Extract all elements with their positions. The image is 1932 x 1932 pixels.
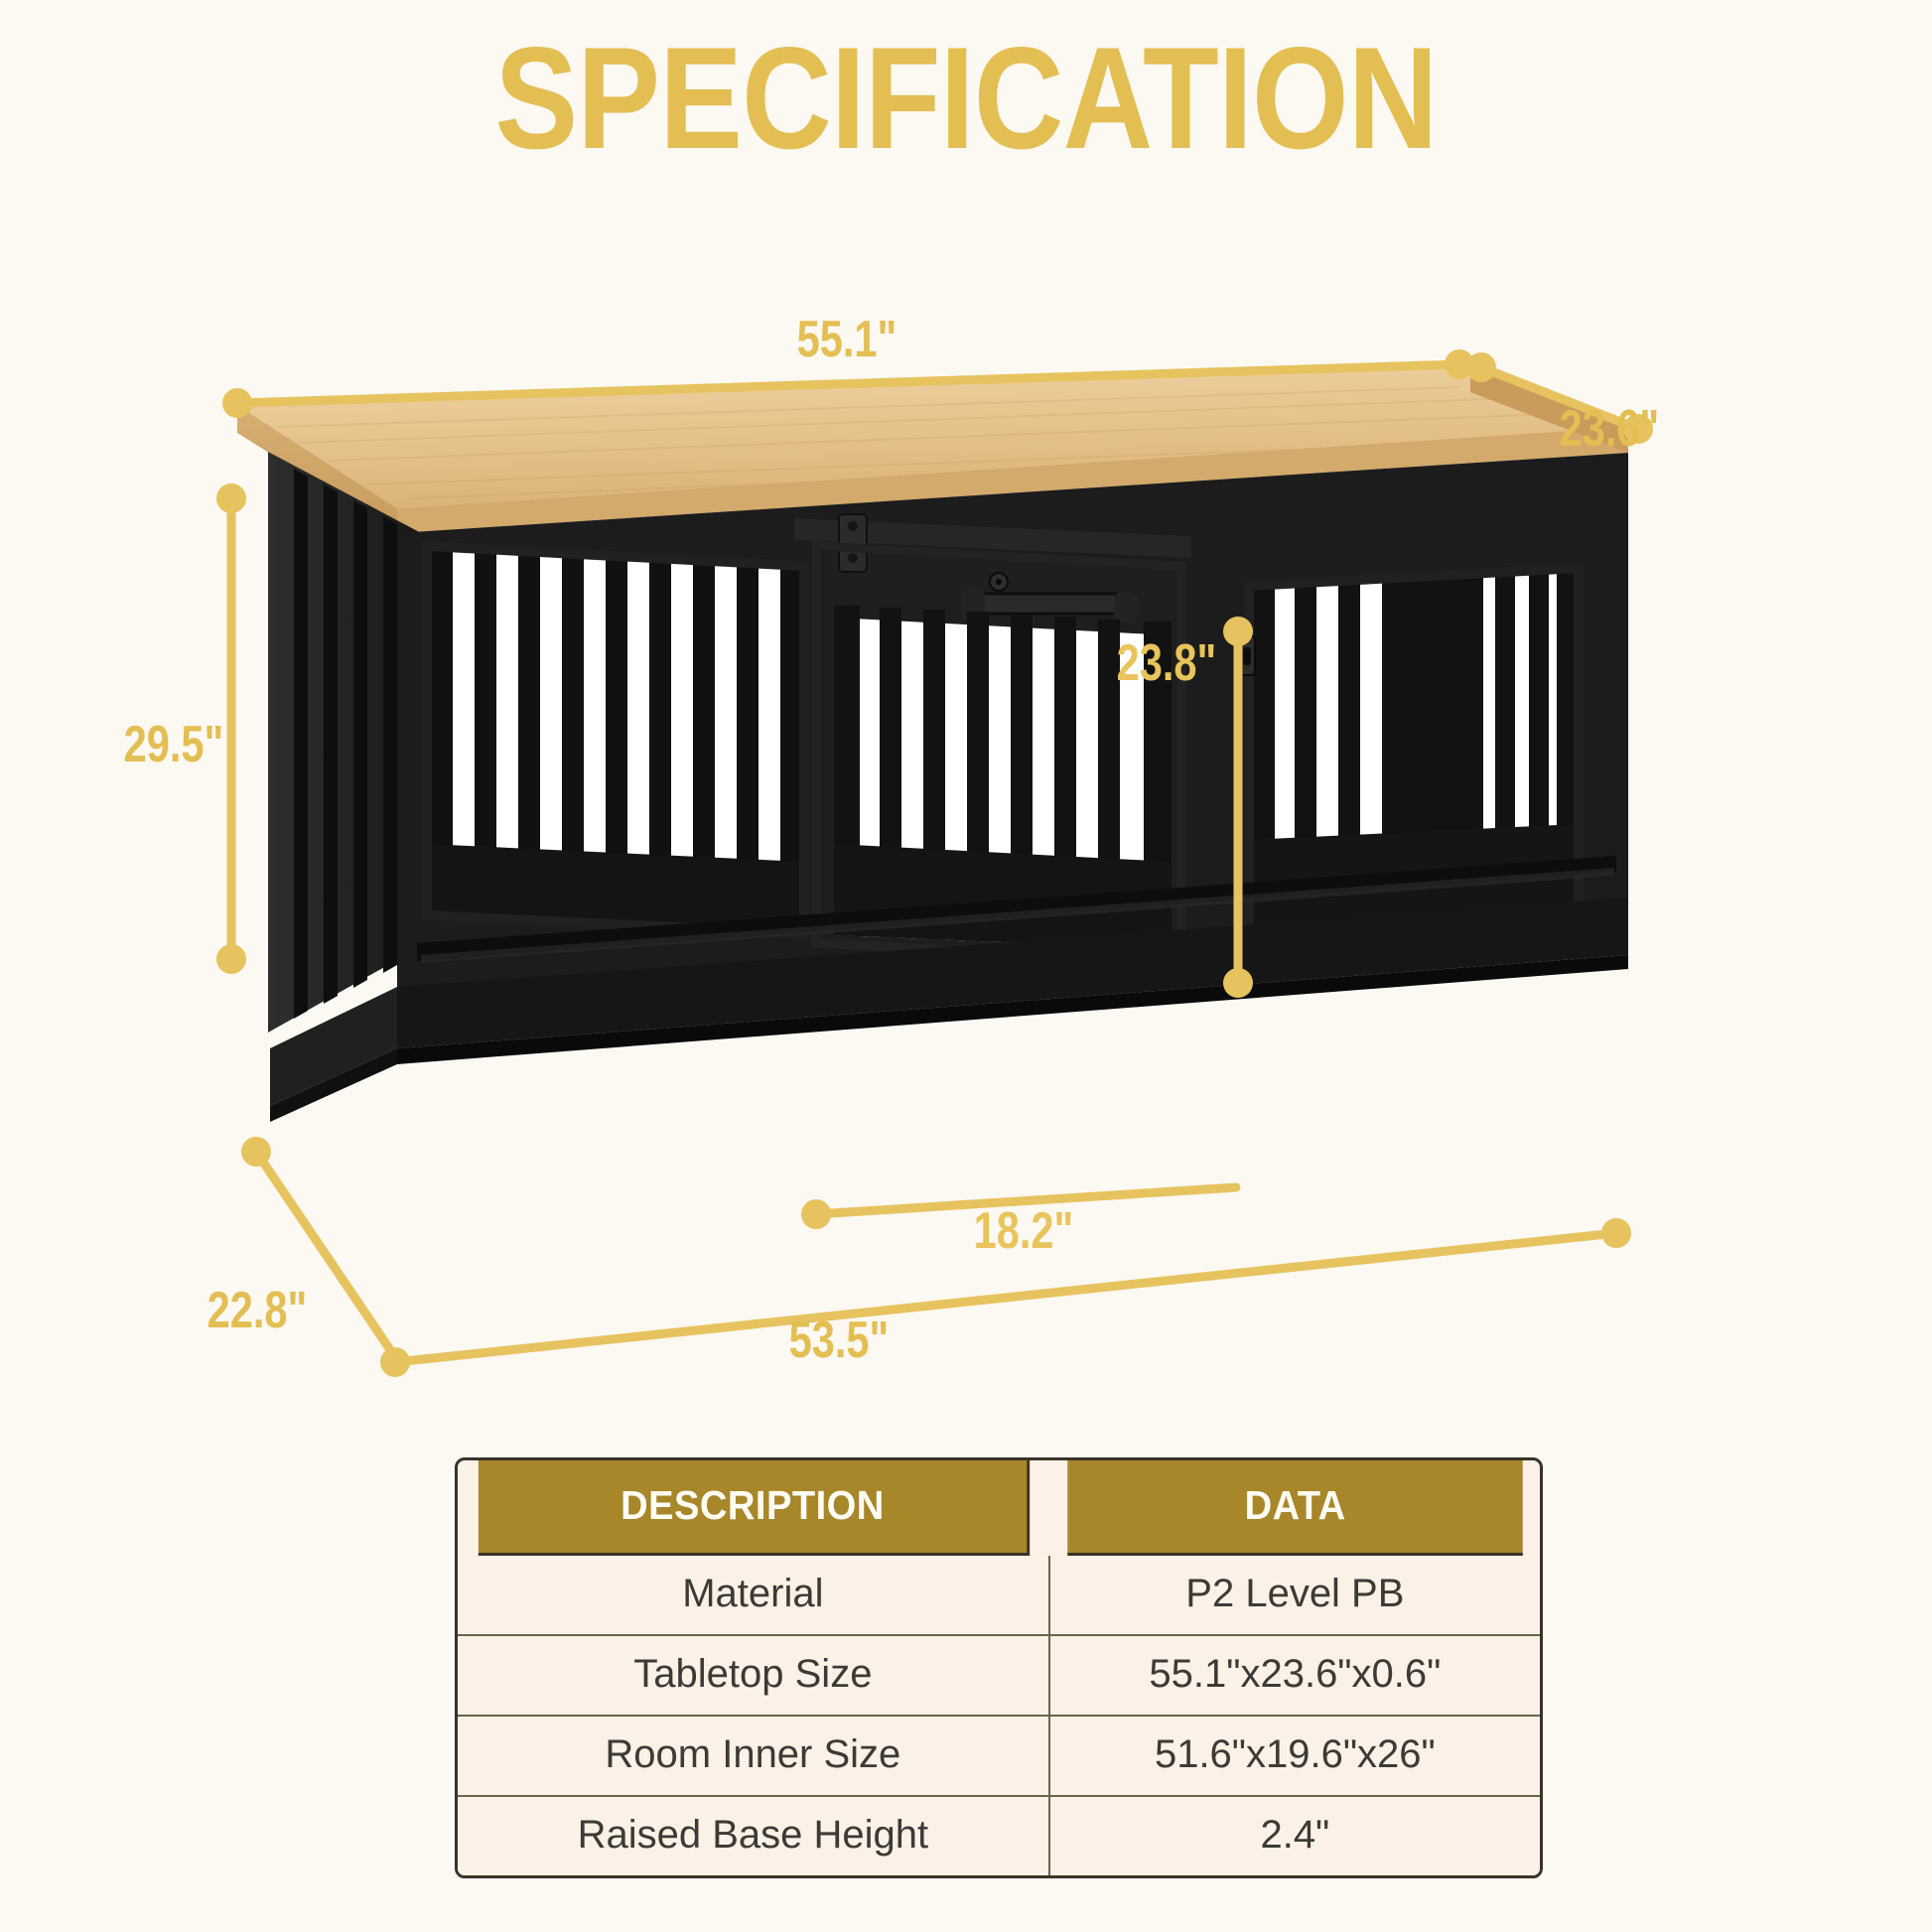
row-data: 51.6"x19.6"x26": [1050, 1717, 1540, 1797]
table-row: Material P2 Level PB: [458, 1556, 1540, 1636]
table-header-description: DESCRIPTION: [479, 1460, 1030, 1556]
table-row: Tabletop Size 55.1"x23.6"x0.6": [458, 1636, 1540, 1717]
page-title: SPECIFICATION: [135, 22, 1797, 174]
table-row: Room Inner Size 51.6"x19.6"x26": [458, 1717, 1540, 1797]
table-header-data: DATA: [1067, 1460, 1523, 1556]
row-description: Tabletop Size: [458, 1636, 1050, 1717]
row-data: 55.1"x23.6"x0.6": [1050, 1636, 1540, 1717]
row-description: Raised Base Height: [458, 1797, 1050, 1875]
specification-table: DESCRIPTION DATA Material P2 Level PB Ta…: [455, 1457, 1543, 1878]
row-data: 2.4": [1050, 1797, 1540, 1875]
left-compartment-bars: [427, 536, 806, 952]
table-header-row: DESCRIPTION DATA: [458, 1460, 1540, 1556]
row-description: Room Inner Size: [458, 1717, 1050, 1797]
dog-crate-drawing: [0, 248, 1932, 1420]
row-description: Material: [458, 1556, 1050, 1636]
table-row: Raised Base Height 2.4": [458, 1797, 1540, 1875]
product-illustration: 55.1" 23.6" 29.5" 23.8" 18.2" 22.8" 53.5…: [0, 248, 1932, 1420]
row-data: P2 Level PB: [1050, 1556, 1540, 1636]
